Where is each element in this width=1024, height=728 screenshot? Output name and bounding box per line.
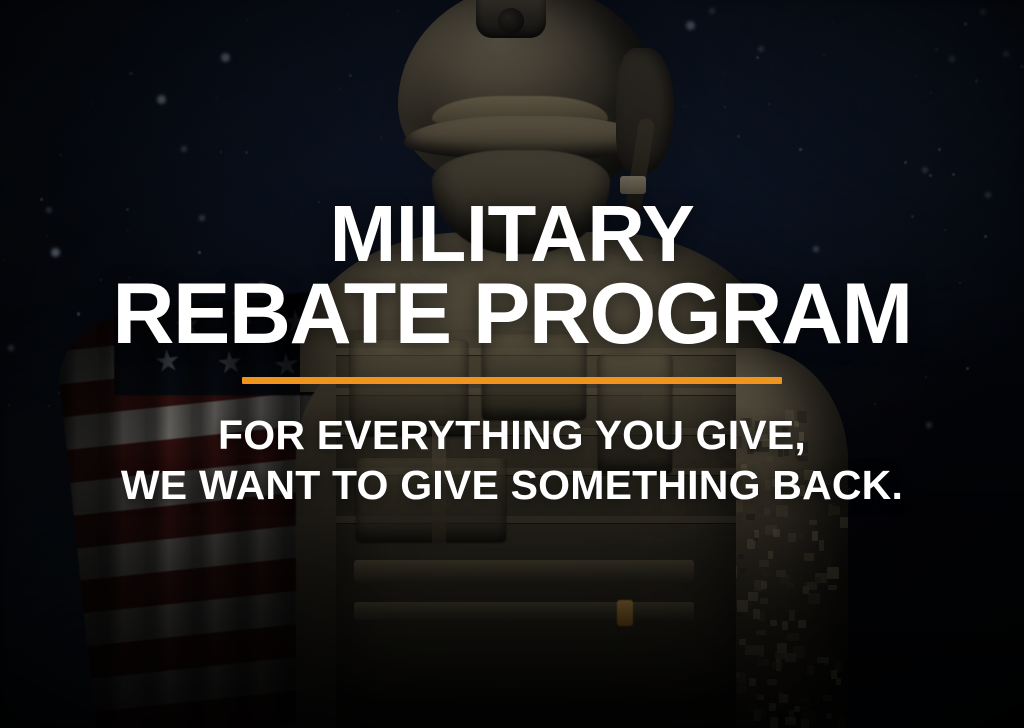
subheadline: FOR EVERYTHING YOU GIVE, WE WANT TO GIVE… (121, 410, 903, 510)
headline-line-2: REBATE PROGRAM (0, 273, 1024, 356)
page-title: MILITARY REBATE PROGRAM (0, 196, 1024, 355)
subheadline-line-1: FOR EVERYTHING YOU GIVE, (121, 410, 903, 460)
subheadline-line-2: WE WANT TO GIVE SOMETHING BACK. (121, 460, 903, 510)
banner-content: MILITARY REBATE PROGRAM FOR EVERYTHING Y… (0, 0, 1024, 728)
headline-line-1: MILITARY (0, 196, 1024, 273)
military-rebate-banner: ★★★★★★★★★★★ MILITARY REBATE PROGRAM (0, 0, 1024, 728)
orange-divider (242, 377, 782, 384)
